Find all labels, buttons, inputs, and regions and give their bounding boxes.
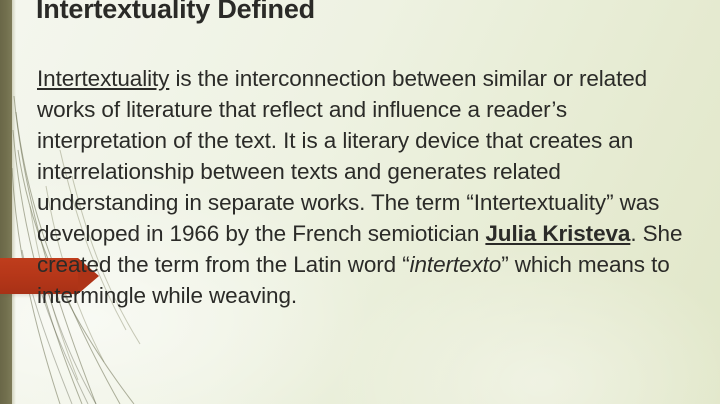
slide-canvas: Intertextuality Defined Intertextuality … bbox=[0, 0, 720, 404]
body-segment-1: is the interconnection between similar o… bbox=[37, 66, 659, 246]
page-title: Intertextuality Defined bbox=[36, 0, 696, 25]
olive-side-band-edge bbox=[12, 0, 16, 404]
olive-side-band bbox=[0, 0, 12, 404]
term-intertextuality: Intertextuality bbox=[37, 66, 169, 91]
person-julia-kristeva: Julia Kristeva bbox=[485, 221, 630, 246]
latin-word-intertexto: intertexto bbox=[410, 252, 502, 277]
body-paragraph: Intertextuality is the interconnection b… bbox=[37, 63, 701, 311]
